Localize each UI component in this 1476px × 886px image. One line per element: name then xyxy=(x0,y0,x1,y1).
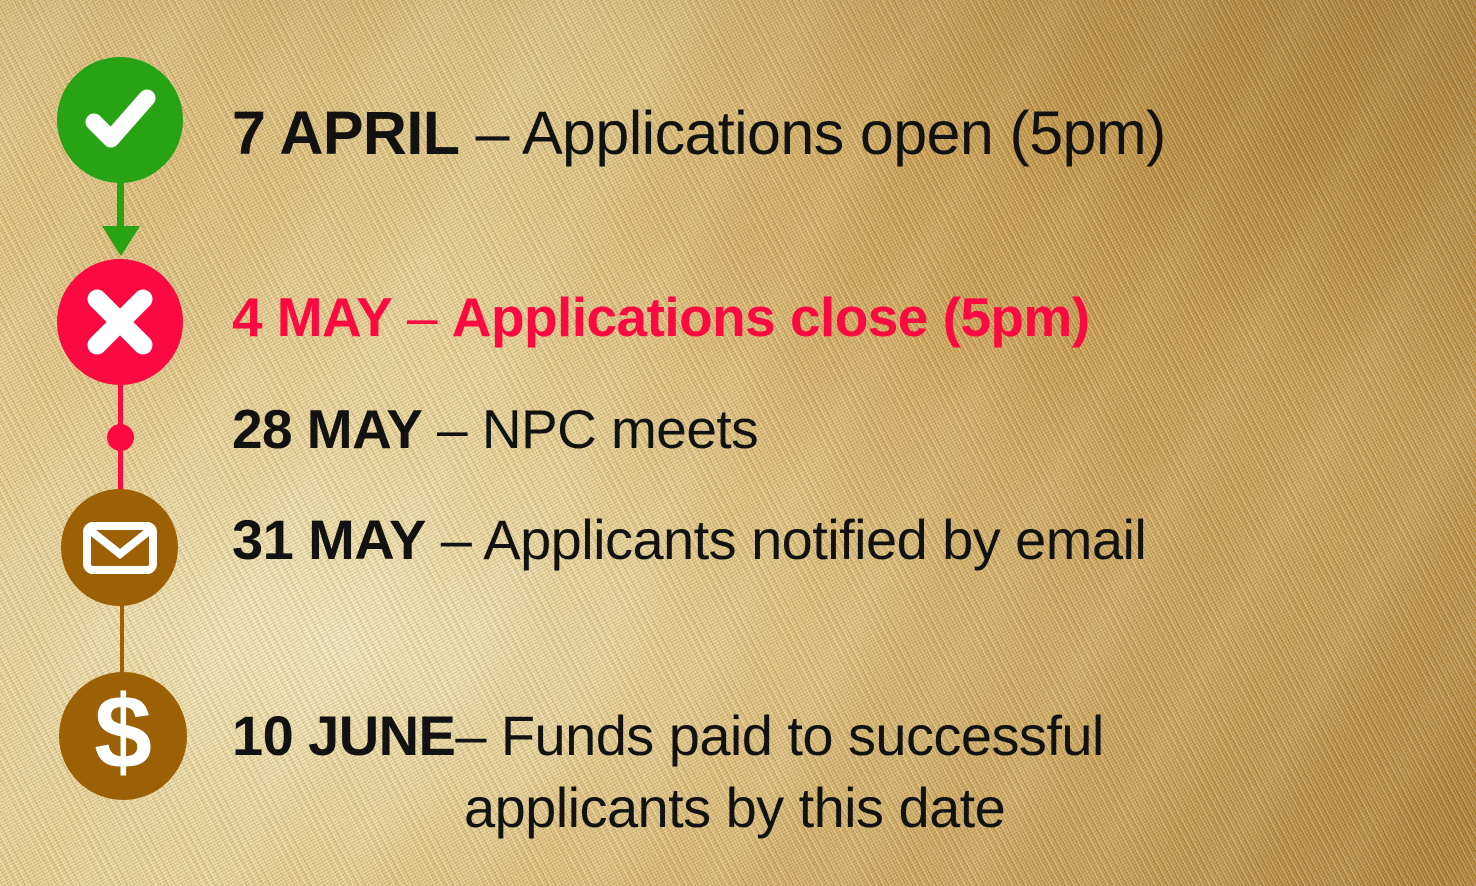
timeline-row-funds-paid: 10 JUNE– Funds paid to successful applic… xyxy=(232,700,1104,843)
timeline-date: 28 MAY xyxy=(232,398,422,460)
timeline-row-npc-meets: 28 MAY – NPC meets xyxy=(232,402,758,457)
timeline-row-applicants-notified: 31 MAY – Applicants notified by email xyxy=(232,512,1146,568)
timeline-description: Applications close (5pm) xyxy=(452,286,1090,348)
timeline-description: Applications open (5pm) xyxy=(522,99,1166,167)
timeline-separator: – xyxy=(455,704,501,767)
timeline-text-column: 7 APRIL – Applications open (5pm) 4 MAY … xyxy=(0,0,1476,886)
timeline-separator: – xyxy=(426,508,484,571)
infographic-canvas: $ 7 APRIL – Applications open (5pm) 4 MA… xyxy=(0,0,1476,886)
timeline-row-applications-close: 4 MAY – Applications close (5pm) xyxy=(232,290,1090,345)
timeline-description: Applicants notified by email xyxy=(483,508,1146,571)
timeline-date: 31 MAY xyxy=(232,508,426,571)
timeline-description-line2: applicants by this date xyxy=(232,772,1104,844)
timeline-separator: – xyxy=(459,99,522,167)
timeline-separator: – xyxy=(392,286,452,348)
timeline-row-applications-open: 7 APRIL – Applications open (5pm) xyxy=(232,103,1166,164)
timeline-date: 10 JUNE xyxy=(232,704,455,767)
timeline-date: 4 MAY xyxy=(232,286,392,348)
timeline-date: 7 APRIL xyxy=(232,99,459,167)
timeline-description: NPC meets xyxy=(482,398,758,460)
timeline-separator: – xyxy=(422,398,482,460)
timeline-description: Funds paid to successful xyxy=(501,704,1104,767)
